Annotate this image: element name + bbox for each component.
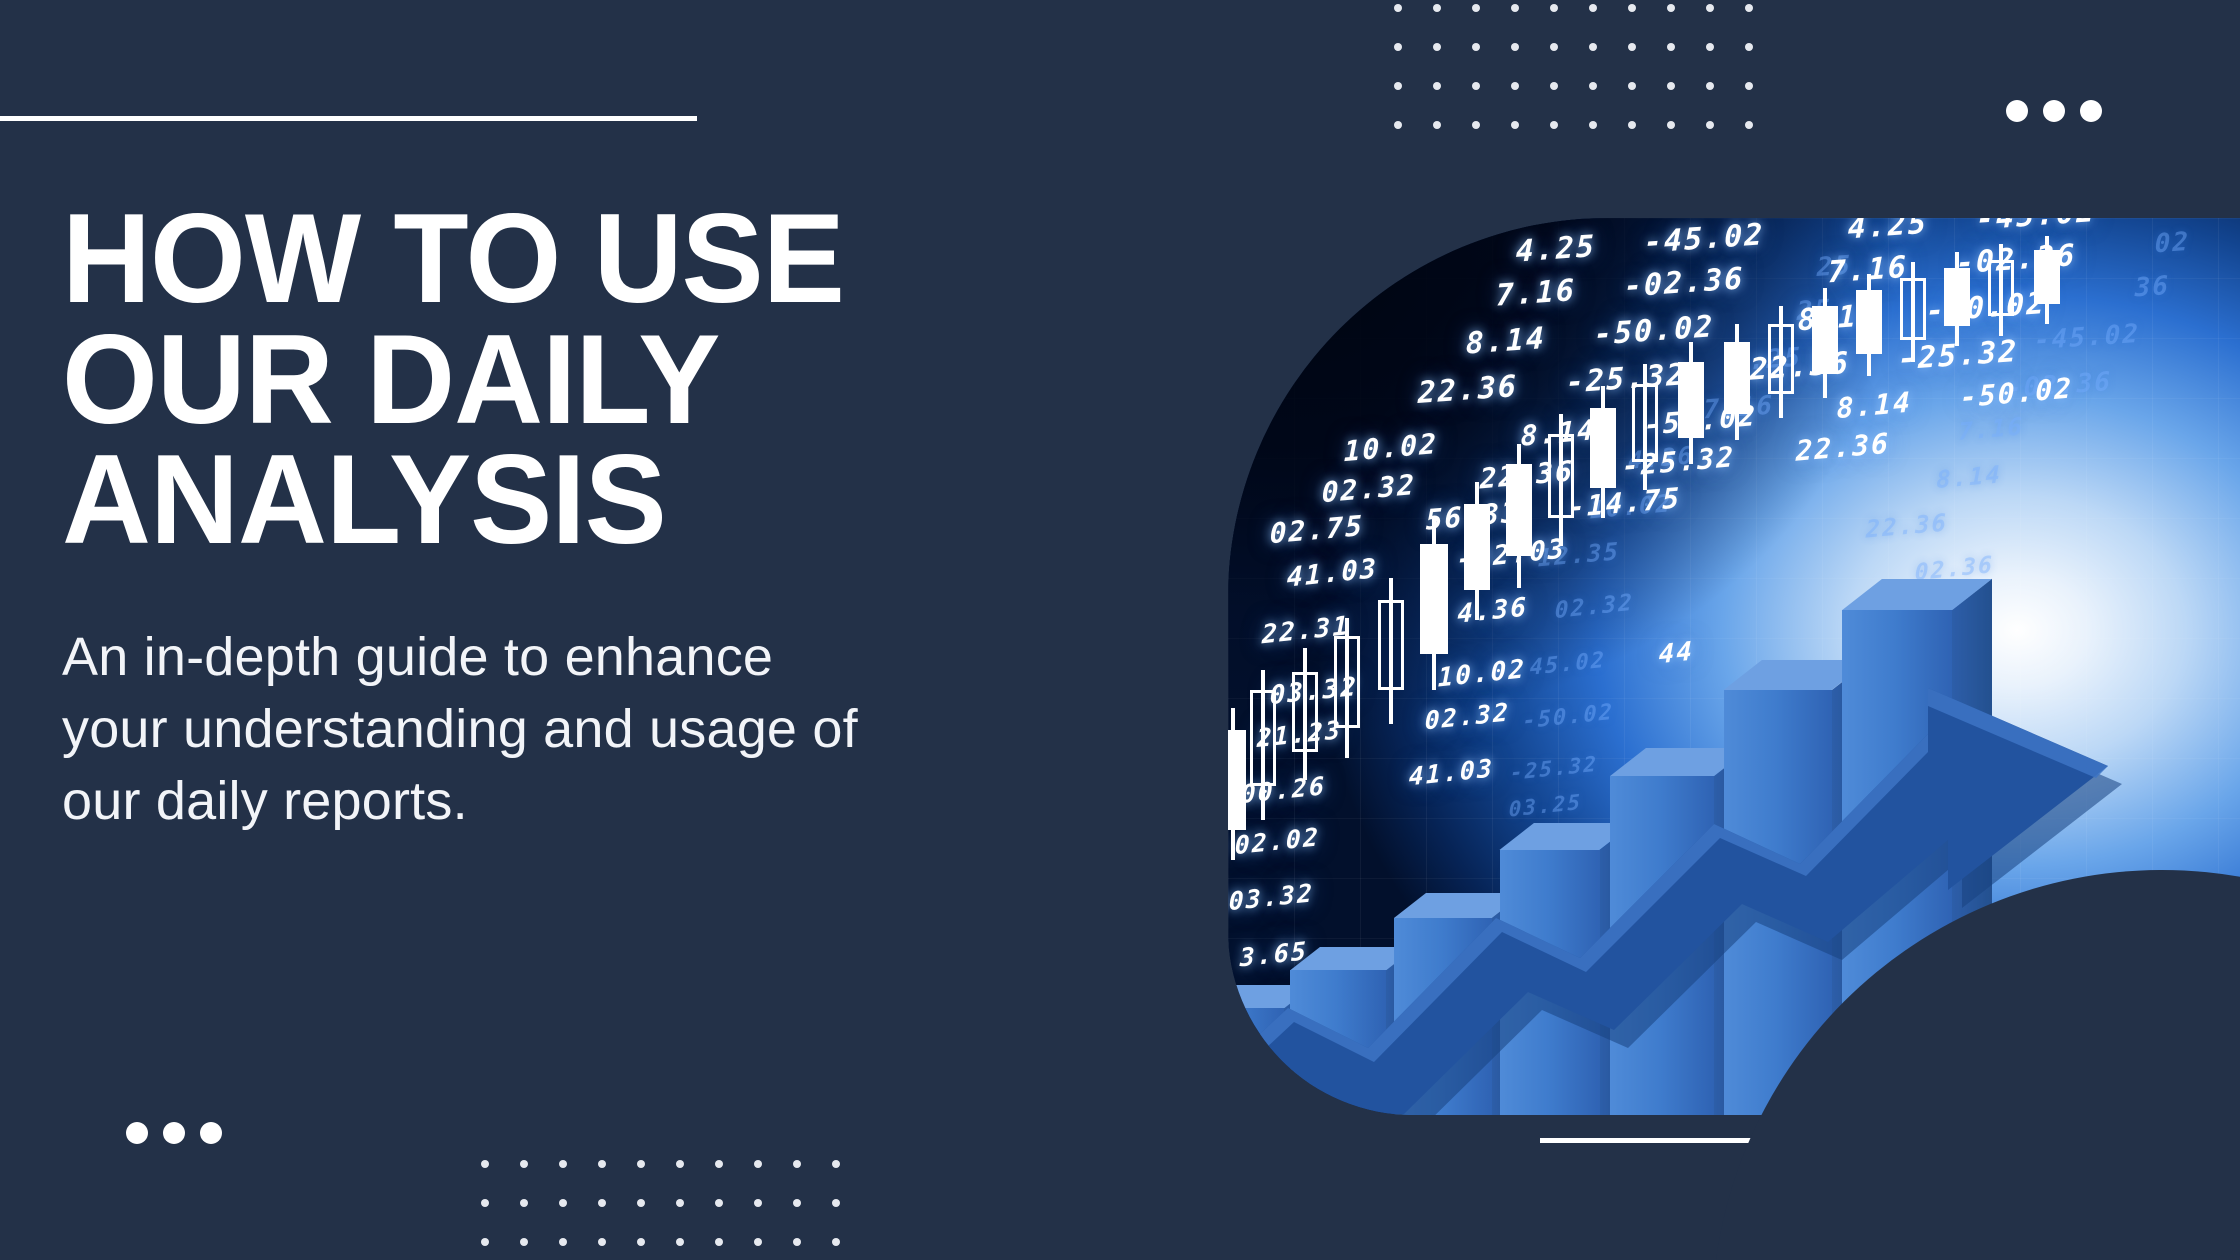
dot-icon (1472, 82, 1480, 90)
dot-icon (1472, 121, 1480, 129)
dot-icon (1394, 4, 1402, 12)
slide-canvas: HOW TO USE OUR DAILY ANALYSIS An in-dept… (0, 0, 2240, 1260)
dot-grid-top-right (1394, 4, 1753, 129)
dot-icon (559, 1199, 567, 1207)
dot-icon (1706, 82, 1714, 90)
dot-icon (1589, 43, 1597, 51)
dot-icon (676, 1160, 684, 1168)
dot-icon (1628, 4, 1636, 12)
dot-icon (1745, 82, 1753, 90)
dot-triple-bottom-left (126, 1122, 222, 1144)
dot-icon (754, 1199, 762, 1207)
dot-icon (1433, 121, 1441, 129)
dot-icon (715, 1238, 723, 1246)
dot-icon (1433, 43, 1441, 51)
dot-icon (637, 1199, 645, 1207)
dot-triple-top-right (2006, 100, 2102, 122)
dot-icon (1589, 82, 1597, 90)
dot-icon (1394, 43, 1402, 51)
dot-icon (1667, 43, 1675, 51)
dot-icon (1745, 43, 1753, 51)
page-subtitle: An in-depth guide to enhance your unders… (62, 622, 862, 837)
dot-icon (520, 1199, 528, 1207)
dot-icon (1667, 4, 1675, 12)
dot-icon (1589, 4, 1597, 12)
dot-icon (559, 1238, 567, 1246)
dot-icon (1628, 121, 1636, 129)
text-block: HOW TO USE OUR DAILY ANALYSIS An in-dept… (62, 198, 1182, 837)
dot-grid-bottom-left (481, 1160, 840, 1246)
dot-icon (637, 1160, 645, 1168)
dot-icon (715, 1160, 723, 1168)
dot-icon (1745, 121, 1753, 129)
dot-icon (832, 1199, 840, 1207)
dot-icon (1550, 121, 1558, 129)
dot-icon (1511, 43, 1519, 51)
dot-icon (793, 1160, 801, 1168)
dot-icon (2080, 100, 2102, 122)
dot-icon (598, 1199, 606, 1207)
dot-icon (2043, 100, 2065, 122)
dot-icon (1745, 4, 1753, 12)
dot-icon (1511, 82, 1519, 90)
dot-icon (520, 1160, 528, 1168)
dot-icon (832, 1238, 840, 1246)
dot-icon (200, 1122, 222, 1144)
dot-icon (1511, 121, 1519, 129)
dot-icon (1433, 4, 1441, 12)
divider-top-left (0, 116, 697, 121)
dot-icon (1550, 4, 1558, 12)
dot-icon (793, 1238, 801, 1246)
dot-icon (520, 1238, 528, 1246)
page-title: HOW TO USE OUR DAILY ANALYSIS (62, 198, 1148, 560)
dot-icon (1628, 43, 1636, 51)
dot-icon (1628, 82, 1636, 90)
dot-icon (559, 1160, 567, 1168)
dot-icon (1667, 82, 1675, 90)
dot-icon (676, 1238, 684, 1246)
dot-icon (1472, 4, 1480, 12)
dot-icon (1550, 82, 1558, 90)
dot-icon (754, 1238, 762, 1246)
dot-icon (754, 1160, 762, 1168)
dot-icon (598, 1160, 606, 1168)
dot-icon (1706, 43, 1714, 51)
dot-icon (1667, 121, 1675, 129)
dot-icon (1472, 43, 1480, 51)
dot-icon (481, 1199, 489, 1207)
dot-icon (1394, 82, 1402, 90)
dot-icon (1550, 43, 1558, 51)
dot-icon (481, 1238, 489, 1246)
dot-icon (2006, 100, 2028, 122)
dot-icon (163, 1122, 185, 1144)
dot-icon (793, 1199, 801, 1207)
dot-icon (832, 1160, 840, 1168)
dot-icon (1511, 4, 1519, 12)
dot-icon (637, 1238, 645, 1246)
dot-icon (715, 1199, 723, 1207)
dot-icon (1589, 121, 1597, 129)
dot-icon (1706, 4, 1714, 12)
dot-icon (1433, 82, 1441, 90)
dot-icon (126, 1122, 148, 1144)
dot-icon (676, 1199, 684, 1207)
dot-icon (1706, 121, 1714, 129)
dot-icon (481, 1160, 489, 1168)
dot-icon (598, 1238, 606, 1246)
dot-icon (1394, 121, 1402, 129)
